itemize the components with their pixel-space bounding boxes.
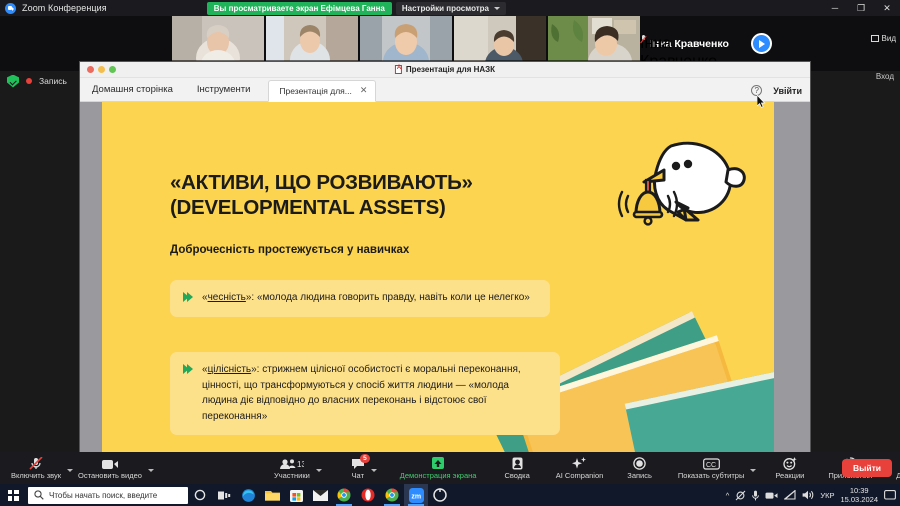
slide-bullet-box: «чесність»: «молода людина говорить прав… [170, 280, 550, 317]
windows-taskbar: Чтобы начать поиск, введите [0, 484, 900, 506]
store-icon[interactable] [284, 484, 308, 506]
zoom-logo-icon [5, 3, 16, 14]
zoom-meeting-window: Zoom Конференция Вы просматриваете экран… [0, 0, 900, 506]
chevron-right-icon [759, 40, 765, 48]
slide-subtitle: Доброчесність простежується у навичках [170, 244, 570, 256]
minimize-window-dot[interactable] [98, 66, 105, 73]
task-view-icon[interactable] [212, 484, 236, 506]
language-indicator[interactable]: УКР [820, 491, 834, 500]
record-icon [633, 457, 646, 470]
toolbar-chat-button[interactable]: 5 Чат [346, 457, 370, 480]
bullet-term: цілісність [208, 364, 252, 375]
acrobat-title-bar: Презентація для НАЗК [80, 62, 810, 78]
mail-icon[interactable] [308, 484, 332, 506]
toolbar-mute-button[interactable]: Включить звук [6, 457, 66, 480]
view-button-label: Вид [882, 34, 896, 43]
taskbar-clock[interactable]: 10:39 15.03.2024 [840, 486, 878, 505]
share-screen-icon [430, 457, 446, 470]
maximize-window-dot[interactable] [109, 66, 116, 73]
clock-time: 10:39 [850, 486, 869, 495]
leave-meeting-button[interactable]: Выйти [842, 459, 892, 477]
document-tab[interactable]: Презентація для... ✕ [268, 80, 376, 102]
zoom-meeting-toolbar: Включить звук Остановить видео 13 Учас [0, 452, 900, 484]
chat-icon: 5 [351, 457, 365, 470]
zoom-app-title: Zoom Конференция [22, 3, 107, 13]
double-chevron-icon [183, 364, 193, 424]
view-options-label: Настройки просмотра [402, 4, 489, 13]
bullet-body: «молода людина говорить правду, навіть к… [257, 292, 530, 303]
toolbar-reactions-button[interactable]: Реакции [770, 457, 809, 480]
zoom-login-label[interactable]: Вход [876, 72, 894, 81]
taskbar-search-input[interactable]: Чтобы начать поиск, введите [28, 487, 188, 504]
cortana-icon[interactable] [188, 484, 212, 506]
recording-dot-icon [26, 78, 32, 84]
bullet-term: чесність [208, 292, 246, 303]
opera-gx-icon[interactable] [428, 484, 452, 506]
svg-text:CC: CC [706, 462, 716, 469]
recording-label: Запись [39, 76, 67, 86]
slide-title: «АКТИВИ, ЩО РОЗВИВАЮТЬ» (DEVELOPMENTAL A… [170, 170, 590, 220]
close-button[interactable]: ✕ [874, 0, 900, 16]
toolbar-label: Демонстрация экрана [400, 472, 477, 480]
search-icon [34, 490, 44, 500]
sign-in-button[interactable]: Увійти [773, 86, 802, 96]
chevron-up-icon[interactable] [371, 469, 377, 472]
toolbar-captions-button[interactable]: CC Показать субтитры [673, 457, 749, 480]
opera-icon[interactable] [356, 484, 380, 506]
summary-icon [511, 457, 524, 470]
toolbar-label: Остановить видео [78, 472, 142, 480]
slide-title-line2: (DEVELOPMENTAL ASSETS) [170, 195, 590, 220]
screen-share-banner: Вы просматриваете экран Ефімцева Ганна [207, 2, 392, 15]
toolbar-whiteboard-button[interactable]: Доски сообщений [891, 457, 900, 480]
toolbar-participants-button[interactable]: 13 Участники [269, 457, 315, 480]
zoom-icon[interactable]: zm [404, 484, 428, 506]
minimize-button[interactable]: ─ [822, 0, 848, 16]
next-participants-button[interactable] [751, 33, 772, 54]
toolbar-video-button[interactable]: Остановить видео [73, 457, 147, 480]
close-tab-icon[interactable]: ✕ [360, 85, 368, 96]
chevron-up-icon[interactable] [148, 469, 154, 472]
menu-home[interactable]: Домашня сторінка [80, 84, 185, 101]
reactions-icon [783, 457, 797, 470]
grid-view-icon [871, 35, 879, 42]
document-title: Презентація для НАЗК [406, 65, 495, 74]
slide-title-line1: «АКТИВИ, ЩО РОЗВИВАЮТЬ» [170, 170, 590, 195]
window-controls: ─ ❐ ✕ [822, 0, 900, 16]
pdf-viewport[interactable]: «АКТИВИ, ЩО РОЗВИВАЮТЬ» (DEVELOPMENTAL A… [80, 102, 810, 452]
mouse-cursor [757, 95, 766, 108]
chevron-down-icon [494, 7, 500, 10]
webcam-icon[interactable] [765, 491, 778, 500]
file-explorer-icon[interactable] [260, 484, 284, 506]
svg-text:13: 13 [297, 460, 304, 469]
window-traffic-lights[interactable] [87, 66, 116, 73]
chevron-up-icon[interactable] [316, 469, 322, 472]
toolbar-label: Реакции [775, 472, 804, 480]
chevron-up-icon[interactable] [750, 469, 756, 472]
menu-tools[interactable]: Інструменти [185, 84, 263, 101]
close-window-dot[interactable] [87, 66, 94, 73]
toolbar-summary-button[interactable]: Сводка [499, 457, 534, 480]
search-placeholder: Чтобы начать поиск, введите [49, 491, 157, 500]
clock-date: 15.03.2024 [840, 495, 878, 504]
video-icon [102, 457, 118, 470]
microphone-icon[interactable] [752, 490, 759, 501]
camera-privacy-icon[interactable] [735, 490, 746, 501]
mic-muted-icon [29, 457, 43, 470]
toolbar-record-button[interactable]: Запись [622, 457, 657, 480]
toolbar-ai-companion-button[interactable]: AI Companion [551, 457, 609, 480]
toolbar-label: Включить звук [11, 472, 61, 480]
tray-expand-icon[interactable]: ^ [726, 491, 730, 500]
slide-bullet-box: «цілісність»: стрижнем цілісної особисто… [170, 352, 560, 435]
bullet-text: «чесність»: «молода людина говорить прав… [202, 290, 530, 306]
encryption-shield-icon[interactable] [7, 75, 19, 88]
svg-text:zm: zm [411, 493, 421, 500]
toolbar-label: Показать субтитры [678, 472, 744, 480]
view-options-button[interactable]: Настройки просмотра [396, 2, 506, 15]
document-tab-label: Презентація для... [279, 86, 351, 96]
action-center-icon[interactable] [884, 490, 896, 500]
ai-sparkle-icon [572, 457, 587, 470]
bird-with-bell-icon [616, 130, 746, 226]
participants-icon: 13 [280, 457, 304, 470]
start-button[interactable] [0, 490, 26, 501]
windows-logo-icon [8, 490, 19, 501]
chrome-icon[interactable] [332, 484, 356, 506]
presentation-slide: «АКТИВИ, ЩО РОЗВИВАЮТЬ» (DEVELOPMENTAL A… [102, 102, 774, 452]
acrobat-reader-window: Презентація для НАЗК Домашня сторінка Ін… [80, 62, 810, 452]
system-tray: ^ УКР 10:39 15.03.2024 [726, 486, 896, 505]
maximize-button[interactable]: ❐ [848, 0, 874, 16]
double-chevron-icon [183, 292, 193, 306]
acrobat-tab-bar: Домашня сторінка Інструменти Презентація… [80, 78, 810, 102]
toolbar-label: AI Companion [556, 472, 604, 480]
view-button[interactable]: Вид [871, 34, 896, 43]
toolbar-label: Участники [274, 472, 310, 480]
toolbar-label: Чат [352, 472, 364, 480]
bullet-text: «цілісність»: стрижнем цілісної особисто… [202, 362, 546, 424]
zoom-title-bar: Zoom Конференция Вы просматриваете экран… [0, 0, 900, 16]
toolbar-label: Доски сообщений [896, 472, 900, 480]
toolbar-label: Запись [627, 472, 652, 480]
volume-icon[interactable] [802, 490, 814, 500]
document-title-group: Презентація для НАЗК [395, 65, 495, 74]
network-icon[interactable] [784, 490, 796, 500]
toolbar-label: Сводка [504, 472, 529, 480]
chat-unread-badge: 5 [360, 454, 370, 463]
captions-icon: CC [703, 457, 720, 470]
pdf-file-icon [395, 65, 402, 74]
chrome-alt-icon[interactable] [380, 484, 404, 506]
toolbar-share-screen-button[interactable]: Демонстрация экрана [395, 457, 482, 480]
edge-icon[interactable] [236, 484, 260, 506]
